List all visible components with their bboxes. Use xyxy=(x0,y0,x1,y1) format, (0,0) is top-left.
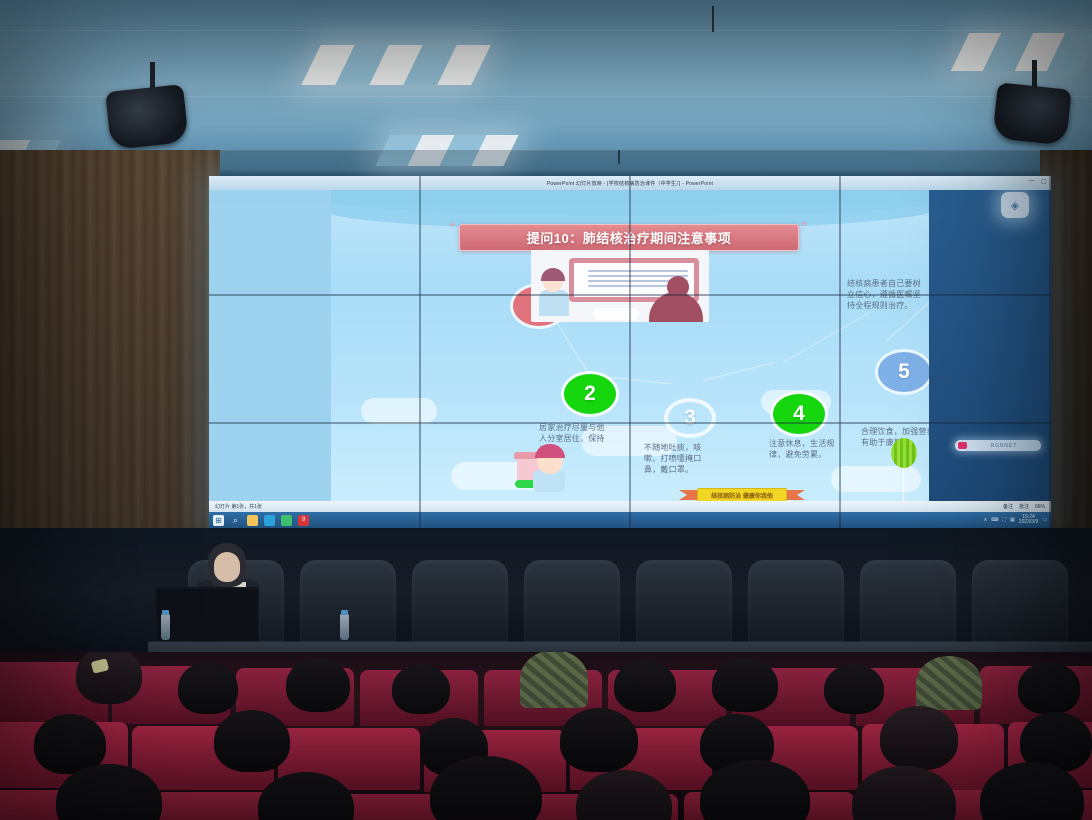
balloon-string xyxy=(903,468,904,502)
step-badge-3: 3 xyxy=(664,398,716,438)
audience-area xyxy=(0,652,1092,820)
quote-open-mark: “ xyxy=(449,220,455,234)
water-bottle-right xyxy=(340,614,349,640)
audience-head-b8 xyxy=(1018,662,1080,714)
ribbon-banner-text: 结核病防治 健康你我他 xyxy=(697,488,787,502)
cloud-1 xyxy=(361,398,437,424)
audience-head-b1 xyxy=(76,652,142,704)
teacher-whiteboard-illustration xyxy=(531,250,709,322)
audience-head-m6 xyxy=(880,706,958,770)
slide-counter: 幻灯片 第1张，共1张 xyxy=(215,503,262,510)
podium-monitor xyxy=(155,587,259,643)
child-hair xyxy=(535,444,565,458)
notification-app-icon[interactable]: 9 xyxy=(298,515,309,526)
step-badge-4: 4 xyxy=(773,394,825,434)
display-logo-icon: ◈ xyxy=(1001,192,1029,218)
search-icon[interactable]: ⌕ xyxy=(230,515,241,526)
audience-head-m4 xyxy=(560,708,638,772)
chair-3 xyxy=(412,560,508,644)
ceiling-light-2 xyxy=(375,135,518,166)
connector-4-5 xyxy=(783,312,870,363)
step-text-3: 不随地吐痰，咳嗽、打喷嚏掩口鼻，戴口罩。 xyxy=(644,442,714,475)
audience-cap-2 xyxy=(916,656,982,710)
step-text-4: 注意休息，生活规律，避免劳累。 xyxy=(769,438,837,460)
rgb-status-dot xyxy=(958,442,967,449)
comments-button[interactable]: 批注 xyxy=(1019,503,1029,510)
chair-6 xyxy=(748,560,844,644)
flying-child-illustration xyxy=(515,440,585,498)
audience-head-b5 xyxy=(614,660,676,712)
video-wall-right-panel xyxy=(929,176,1051,528)
ceiling-cable-1 xyxy=(712,6,714,32)
system-tray[interactable]: ∧ ⌨ ⛶ ▦ 15:24 2023/3/9 ▭ xyxy=(984,515,1047,525)
rgb-indicator-bar: RGBNET xyxy=(955,440,1041,451)
tray-expand-icon[interactable]: ∧ xyxy=(984,517,988,523)
lecture-hall-photo: PowerPoint 幻灯片放映 - [学校结核病防治课件（中学生）] - Po… xyxy=(0,0,1092,820)
audience-head-b2 xyxy=(178,662,238,714)
bottle-cap-left xyxy=(162,610,169,615)
network-icon[interactable]: ⛶ xyxy=(1003,517,1007,523)
panel-bezel-v4 xyxy=(1049,176,1051,528)
panel-bezel-h1 xyxy=(209,294,1051,296)
balloon-icon xyxy=(891,438,917,468)
volume-icon[interactable]: ▦ xyxy=(1010,517,1015,523)
led-video-wall[interactable]: PowerPoint 幻灯片放映 - [学校结核病防治课件（中学生）] - Po… xyxy=(209,176,1051,528)
chair-5 xyxy=(636,560,732,644)
notification-icon[interactable]: ▭ xyxy=(1042,517,1047,523)
audience-head-m2 xyxy=(214,710,290,772)
panel-bezel-h2 xyxy=(209,422,1051,424)
maximize-icon[interactable]: ▢ xyxy=(1041,178,1047,185)
ceiling-speaker-right xyxy=(992,82,1071,145)
browser-icon[interactable] xyxy=(264,515,275,526)
ceiling-light-3 xyxy=(951,33,1092,71)
water-bottle-left xyxy=(161,614,170,640)
cloud-5 xyxy=(831,466,921,492)
zoom-level[interactable]: 66% xyxy=(1035,504,1045,510)
chair-8 xyxy=(972,560,1068,644)
notes-button[interactable]: 备注 xyxy=(1003,503,1013,510)
audience-cap-1 xyxy=(520,652,588,708)
connector-3-4 xyxy=(703,362,775,381)
ceiling-light-1 xyxy=(301,45,491,85)
wechat-icon[interactable] xyxy=(281,515,292,526)
taskbar-clock[interactable]: 15:24 2023/3/9 xyxy=(1019,515,1038,525)
ceiling-speaker-left xyxy=(105,84,189,150)
panel-bezel-v3 xyxy=(839,176,841,528)
illustration-cloud xyxy=(593,308,639,320)
quote-close-mark: ” xyxy=(801,220,807,234)
audience-head-b6 xyxy=(712,658,778,712)
ribbon-banner: 结核病防治 健康你我他 xyxy=(679,488,805,502)
status-right-group[interactable]: 备注 批注 66% xyxy=(1003,503,1045,510)
window-controls[interactable]: — ▢ xyxy=(1029,178,1047,185)
presenter-head xyxy=(208,543,246,587)
step-badge-5: 5 xyxy=(878,352,929,392)
clock-date: 2023/3/9 xyxy=(1019,520,1038,525)
panel-bezel-v2 xyxy=(629,176,631,528)
ceiling-cable-2 xyxy=(618,150,620,164)
presenter-face xyxy=(214,552,240,582)
teacher-hair xyxy=(541,268,565,281)
audience-head-b7 xyxy=(824,664,884,714)
file-explorer-icon[interactable] xyxy=(247,515,258,526)
step-badge-2: 2 xyxy=(564,374,616,414)
minimize-icon[interactable]: — xyxy=(1029,178,1035,185)
rgb-bar-label: RGBNET xyxy=(967,443,1041,449)
windows-start-icon[interactable]: ⊞ xyxy=(213,515,224,526)
chair-7 xyxy=(860,560,956,644)
keyboard-icon[interactable]: ⌨ xyxy=(991,517,998,523)
chair-4 xyxy=(524,560,620,644)
panel-bezel-v1 xyxy=(419,176,421,528)
audience-head-b4 xyxy=(392,664,450,714)
bottle-cap-right xyxy=(341,610,348,615)
audience-head-b3 xyxy=(286,658,350,712)
